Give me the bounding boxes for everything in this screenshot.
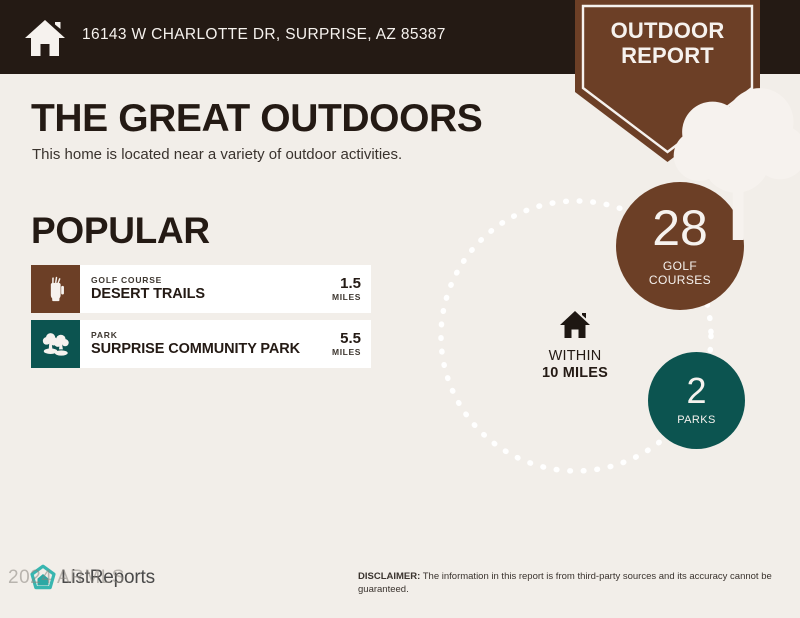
list-item-text: GOLF COURSE DESERT TRAILS bbox=[80, 265, 328, 313]
list-item-distance-unit: MILES bbox=[332, 347, 361, 358]
outdoor-report-badge: OUTDOOR REPORT bbox=[575, 0, 760, 162]
home-icon bbox=[24, 18, 66, 58]
page-subtitle: This home is located near a variety of o… bbox=[32, 146, 402, 163]
list-item-distance: 1.5 MILES bbox=[328, 265, 371, 313]
parks-count: 2 bbox=[686, 373, 706, 409]
list-item-distance-unit: MILES bbox=[332, 292, 361, 303]
list-item[interactable]: PARK SURPRISE COMMUNITY PARK 5.5 MILES bbox=[31, 320, 371, 368]
disclaimer: DISCLAIMER: The information in this repo… bbox=[358, 571, 778, 596]
mls-watermark: 2024 ARMLS bbox=[8, 567, 125, 589]
parks-label: PARKS bbox=[677, 414, 715, 427]
radius-center-line2: 10 MILES bbox=[505, 365, 645, 382]
park-trees-icon bbox=[31, 320, 80, 368]
section-title-popular: POPULAR bbox=[31, 210, 210, 252]
tree-icon bbox=[647, 78, 689, 126]
list-item-distance-value: 1.5 bbox=[340, 276, 361, 292]
disclaimer-label: DISCLAIMER: bbox=[358, 571, 420, 582]
golf-bag-icon bbox=[31, 265, 80, 313]
list-item-kind: GOLF COURSE bbox=[91, 275, 328, 286]
list-item[interactable]: GOLF COURSE DESERT TRAILS 1.5 MILES bbox=[31, 265, 371, 313]
property-address: 16143 W CHARLOTTE DR, SURPRISE, AZ 85387 bbox=[82, 26, 446, 44]
badge-title: OUTDOOR REPORT bbox=[575, 18, 760, 68]
list-item-kind: PARK bbox=[91, 330, 328, 341]
list-item-name: DESERT TRAILS bbox=[91, 286, 328, 303]
radius-center-line1: WITHIN bbox=[505, 348, 645, 365]
list-item-text: PARK SURPRISE COMMUNITY PARK bbox=[80, 320, 328, 368]
list-item-distance-value: 5.5 bbox=[340, 331, 361, 347]
popular-list: GOLF COURSE DESERT TRAILS 1.5 MILES bbox=[31, 265, 371, 375]
badge-title-line2: REPORT bbox=[575, 43, 760, 68]
page-title: THE GREAT OUTDOORS bbox=[31, 97, 482, 141]
disclaimer-text: The information in this report is from t… bbox=[358, 571, 772, 595]
home-icon bbox=[559, 310, 591, 340]
golf-courses-label-line2: COURSES bbox=[649, 273, 711, 287]
list-item-name: SURPRISE COMMUNITY PARK bbox=[91, 341, 328, 358]
outdoor-report-page: 16143 W CHARLOTTE DR, SURPRISE, AZ 85387… bbox=[0, 0, 800, 618]
golf-courses-label: GOLF COURSES bbox=[649, 259, 711, 287]
list-item-distance: 5.5 MILES bbox=[328, 320, 371, 368]
badge-title-line1: OUTDOOR bbox=[611, 18, 725, 43]
golf-courses-label-line1: GOLF bbox=[663, 259, 697, 273]
stat-bubble-parks[interactable]: 2 PARKS bbox=[648, 352, 745, 449]
radius-center-label: WITHIN 10 MILES bbox=[505, 310, 645, 382]
